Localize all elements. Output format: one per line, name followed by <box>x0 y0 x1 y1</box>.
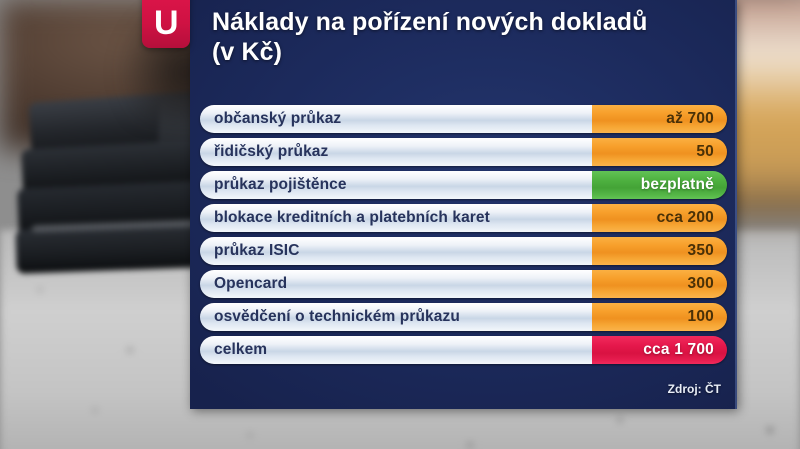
row-label: průkaz pojištěnce <box>200 171 592 199</box>
row-label: průkaz ISIC <box>200 237 592 265</box>
channel-logo-badge: U <box>142 0 190 48</box>
source-attribution: Zdroj: ČT <box>668 382 721 396</box>
channel-logo-letter: U <box>154 6 178 48</box>
table-row: průkaz pojištěnce bezplatně <box>200 171 727 199</box>
table-row: osvědčení o technickém průkazu 100 <box>200 303 727 331</box>
table-row: Opencard 300 <box>200 270 727 298</box>
table-row: občanský průkaz až 700 <box>200 105 727 133</box>
row-label: řidičský průkaz <box>200 138 592 166</box>
row-value: až 700 <box>592 105 727 133</box>
table-row-total: celkem cca 1 700 <box>200 336 727 364</box>
title-line-2: (v Kč) <box>212 38 712 68</box>
row-value: 350 <box>592 237 727 265</box>
row-value: cca 200 <box>592 204 727 232</box>
table-row: řidičský průkaz 50 <box>200 138 727 166</box>
row-label: občanský průkaz <box>200 105 592 133</box>
row-label: osvědčení o technickém průkazu <box>200 303 592 331</box>
page-title: Náklady na pořízení nových dokladů (v Kč… <box>212 8 712 67</box>
cost-table: občanský průkaz až 700 řidičský průkaz 5… <box>200 105 727 369</box>
row-value: 100 <box>592 303 727 331</box>
table-row: průkaz ISIC 350 <box>200 237 727 265</box>
row-label: blokace kreditních a platebních karet <box>200 204 592 232</box>
table-row: blokace kreditních a platebních karet cc… <box>200 204 727 232</box>
row-value: bezplatně <box>592 171 727 199</box>
row-value: cca 1 700 <box>592 336 727 364</box>
row-label: celkem <box>200 336 592 364</box>
title-line-1: Náklady na pořízení nových dokladů <box>212 8 647 36</box>
row-value: 50 <box>592 138 727 166</box>
row-label: Opencard <box>200 270 592 298</box>
infographic-panel: Náklady na pořízení nových dokladů (v Kč… <box>190 0 737 409</box>
row-value: 300 <box>592 270 727 298</box>
